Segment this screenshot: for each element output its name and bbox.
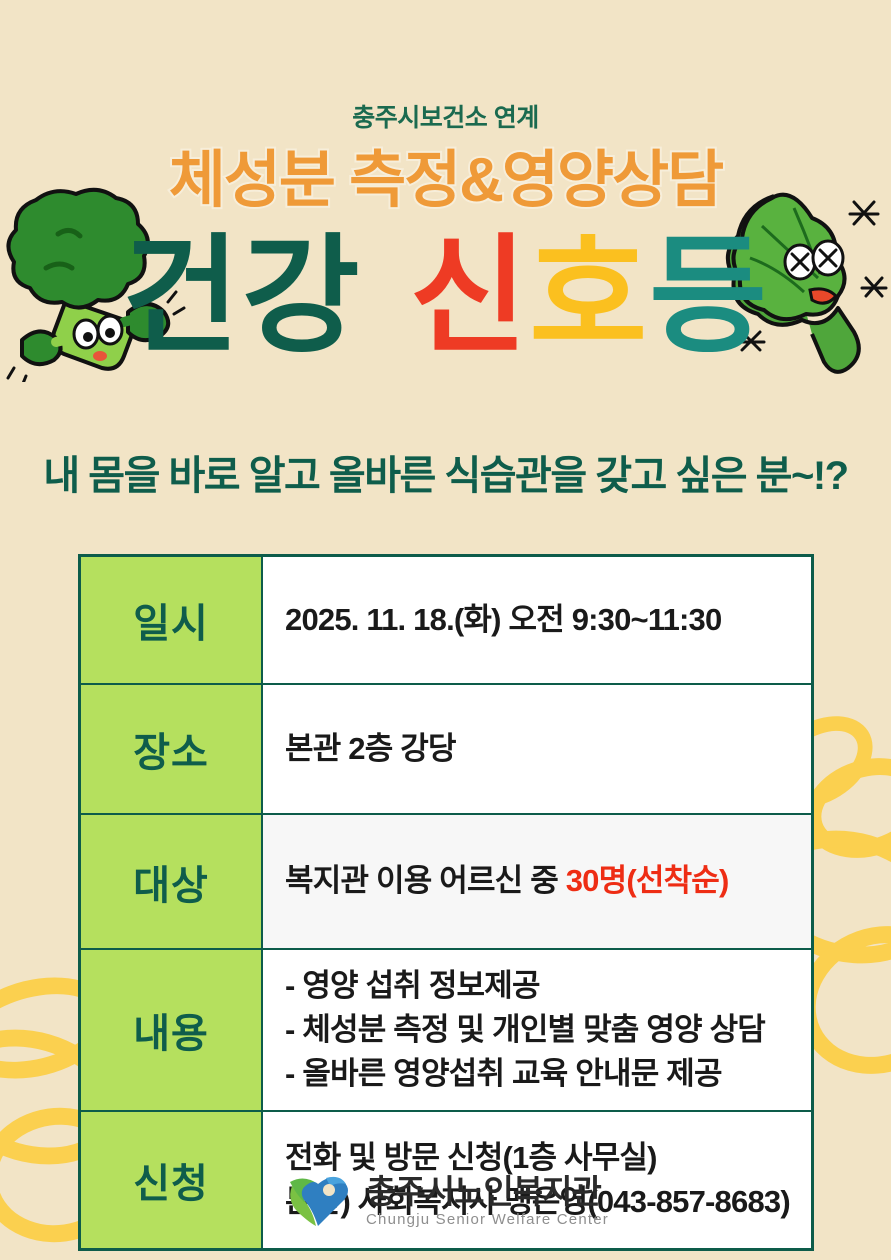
program-details-table: 일시 2025. 11. 18.(화) 오전 9:30~11:30 장소 본관 … xyxy=(78,554,814,1251)
table-row: 일시 2025. 11. 18.(화) 오전 9:30~11:30 xyxy=(80,556,813,685)
table-row: 대상 복지관 이용 어르신 중 30명(선착순) xyxy=(80,814,813,949)
poster-canvas: 충주시보건소 연계 체성분 측정&영양상담 건강신호등 xyxy=(0,0,891,1260)
row-label-target: 대상 xyxy=(80,814,263,949)
content-line-2: - 체성분 측정 및 개인별 맞춤 영양 상담 xyxy=(285,1008,811,1052)
row-value-target: 복지관 이용 어르신 중 30명(선착순) xyxy=(262,814,813,949)
kicker-text: 충주시보건소 연계 xyxy=(0,98,891,134)
content-line-3: - 올바른 영양섭취 교육 안내문 제공 xyxy=(285,1052,811,1096)
heart-swirl-logo-icon xyxy=(282,1168,354,1233)
row-label-place: 장소 xyxy=(80,684,263,814)
lead-question: 내 몸을 바로 알고 올바른 식습관을 갖고 싶은 분~!? xyxy=(0,443,891,501)
footer-name-kr: 충주시노인복지관 xyxy=(366,1175,609,1208)
table-row: 내용 - 영양 섭취 정보제공 - 체성분 측정 및 개인별 맞춤 영양 상담 … xyxy=(80,949,813,1111)
target-capacity-highlight: 30명(선착순) xyxy=(566,863,729,898)
row-label-date: 일시 xyxy=(80,556,263,685)
row-label-content: 내용 xyxy=(80,949,263,1111)
main-title-char-sin: 신 xyxy=(410,225,530,368)
row-value-place: 본관 2층 강당 xyxy=(262,684,813,814)
footer-logo: 충주시노인복지관 Chungju Senior Welfare Center xyxy=(0,1168,891,1233)
content-line-1: - 영양 섭취 정보제공 xyxy=(285,964,811,1008)
row-value-content: - 영양 섭취 정보제공 - 체성분 측정 및 개인별 맞춤 영양 상담 - 올… xyxy=(262,949,813,1111)
subtitle-heading: 체성분 측정&영양상담 xyxy=(0,150,891,212)
footer-name-en: Chungju Senior Welfare Center xyxy=(366,1212,609,1227)
main-title-char-deung: 등 xyxy=(649,225,769,368)
main-title: 건강신호등 xyxy=(0,228,891,366)
main-title-char-ho: 호 xyxy=(529,225,649,368)
table-row: 장소 본관 2층 강당 xyxy=(80,684,813,814)
footer-name-block: 충주시노인복지관 Chungju Senior Welfare Center xyxy=(366,1175,609,1227)
main-title-word-geongang: 건강 xyxy=(122,225,362,368)
row-value-date: 2025. 11. 18.(화) 오전 9:30~11:30 xyxy=(262,556,813,685)
target-prefix-text: 복지관 이용 어르신 중 xyxy=(285,863,566,898)
